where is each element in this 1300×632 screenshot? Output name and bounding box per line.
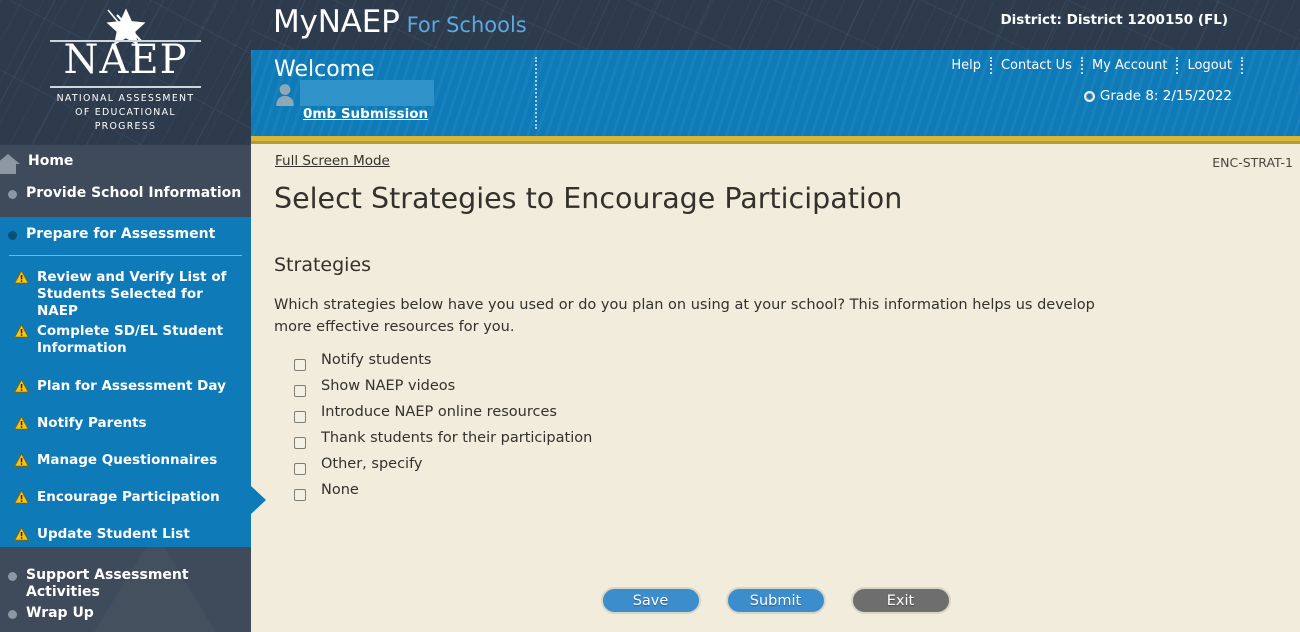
warning-icon xyxy=(14,324,29,338)
sidebar-item-label: Notify Parents xyxy=(37,415,147,432)
checkbox-input[interactable] xyxy=(294,489,306,501)
checkbox-input[interactable] xyxy=(294,463,306,475)
bullet-icon xyxy=(8,610,17,619)
naep-acronym: NAEP xyxy=(0,40,251,80)
exit-button[interactable]: Exit xyxy=(851,587,951,614)
sidebar-item-label: Home xyxy=(28,153,73,170)
page-code-label: ENC-STRAT-1 xyxy=(1212,155,1293,170)
sidebar-item-label: Complete SD/EL Student Information xyxy=(37,323,237,357)
omb-submission-link[interactable]: 0mb Submission xyxy=(303,106,428,122)
bullet-icon xyxy=(8,190,17,199)
sidebar-item-label: Encourage Participation xyxy=(37,489,220,506)
sidebar-section-rule xyxy=(9,255,242,256)
sidebar-nav: Home Provide School Information Prepare … xyxy=(0,145,251,632)
nav-logout[interactable]: Logout xyxy=(1178,57,1243,74)
strategies-checkbox-list: Notify students Show NAEP videos Introdu… xyxy=(294,350,592,506)
checkbox-row-notify-students[interactable]: Notify students xyxy=(294,350,592,376)
brand-primary: MyNAEP xyxy=(273,4,400,40)
naep-tagline: NATIONAL ASSESSMENT OF EDUCATIONAL PROGR… xyxy=(0,92,251,134)
naep-logo-panel: NAEP NATIONAL ASSESSMENT OF EDUCATIONAL … xyxy=(0,0,251,145)
brand-secondary: For Schools xyxy=(407,13,527,37)
naep-tagline-line3: PROGRESS xyxy=(0,120,251,134)
naep-tagline-line1: NATIONAL ASSESSMENT xyxy=(0,92,251,106)
checkbox-label: None xyxy=(321,480,359,500)
checkbox-label: Other, specify xyxy=(321,454,423,474)
checkbox-label: Thank students for their participation xyxy=(321,428,592,448)
house-icon xyxy=(0,154,22,174)
user-name-redacted xyxy=(300,80,434,106)
sidebar-item-manage-questionnaires[interactable]: Manage Questionnaires xyxy=(0,452,251,469)
checkbox-label: Show NAEP videos xyxy=(321,376,455,396)
checkbox-row-introduce-naep-online-resources[interactable]: Introduce NAEP online resources xyxy=(294,402,592,428)
top-nav: Help Contact Us My Account Logout xyxy=(951,57,1243,74)
form-action-buttons: Save Submit Exit xyxy=(251,587,1300,614)
sidebar-item-label: Provide School Information xyxy=(26,185,241,202)
sidebar-item-provide-school-information[interactable]: Provide School Information xyxy=(0,185,251,202)
warning-icon xyxy=(14,527,29,541)
sidebar-item-review-and-verify-list[interactable]: Review and Verify List of Students Selec… xyxy=(0,269,251,320)
warning-icon xyxy=(14,416,29,430)
brand-logo: MyNAEPFor Schools xyxy=(273,4,527,40)
district-label: District: District 1200150 (FL) xyxy=(1000,12,1228,28)
checkbox-row-none[interactable]: None xyxy=(294,480,592,506)
nav-help[interactable]: Help xyxy=(951,57,992,74)
sidebar-item-plan-for-assessment-day[interactable]: Plan for Assessment Day xyxy=(0,378,251,395)
main-content: Full Screen Mode ENC-STRAT-1 Select Stra… xyxy=(251,144,1300,632)
section-title: Strategies xyxy=(274,254,371,276)
sidebar-item-notify-parents[interactable]: Notify Parents xyxy=(0,415,251,432)
sidebar-item-encourage-participation[interactable]: Encourage Participation xyxy=(0,489,251,506)
save-button[interactable]: Save xyxy=(601,587,701,614)
checkbox-label: Notify students xyxy=(321,350,431,370)
checkbox-row-other-specify[interactable]: Other, specify xyxy=(294,454,592,480)
nav-my-account[interactable]: My Account xyxy=(1083,57,1179,74)
bullet-icon xyxy=(8,231,17,240)
logo-rule-bottom xyxy=(50,86,201,88)
checkbox-row-show-naep-videos[interactable]: Show NAEP videos xyxy=(294,376,592,402)
sidebar-item-label: Review and Verify List of Students Selec… xyxy=(37,269,237,320)
sidebar-item-label: Plan for Assessment Day xyxy=(37,378,226,395)
gold-divider-shadow xyxy=(251,141,1300,144)
sidebar-item-label: Update Student List xyxy=(37,526,190,543)
active-item-pointer-icon xyxy=(251,486,266,514)
full-screen-mode-link[interactable]: Full Screen Mode xyxy=(275,153,390,169)
warning-icon xyxy=(14,270,29,284)
warning-icon xyxy=(14,490,29,504)
sidebar-item-home[interactable]: Home xyxy=(0,153,251,174)
sidebar-item-prepare-for-assessment[interactable]: Prepare for Assessment xyxy=(0,226,251,243)
welcome-bar: Welcome 0mb Submission Help Contact Us M… xyxy=(251,50,1300,136)
submit-button[interactable]: Submit xyxy=(726,587,826,614)
checkbox-input[interactable] xyxy=(294,385,306,397)
warning-icon xyxy=(14,379,29,393)
sidebar-item-label: Wrap Up xyxy=(26,605,94,622)
grade-info: Grade 8: 2/15/2022 xyxy=(1084,88,1232,104)
checkbox-input[interactable] xyxy=(294,437,306,449)
app-window: MyNAEPFor Schools District: District 120… xyxy=(0,0,1300,632)
checkbox-input[interactable] xyxy=(294,411,306,423)
bullet-icon xyxy=(8,572,17,581)
sidebar-item-label: Manage Questionnaires xyxy=(37,452,217,469)
sidebar-item-label: Prepare for Assessment xyxy=(26,226,215,243)
sidebar-item-complete-sd-el-student-information[interactable]: Complete SD/EL Student Information xyxy=(0,323,251,357)
sidebar-item-wrap-up[interactable]: Wrap Up xyxy=(0,605,251,622)
checkbox-input[interactable] xyxy=(294,359,306,371)
target-icon xyxy=(1084,91,1095,102)
welcome-title: Welcome xyxy=(274,57,375,82)
warning-icon xyxy=(14,453,29,467)
user-avatar-icon xyxy=(275,83,295,106)
sidebar-item-label: Support Assessment Activities xyxy=(26,567,251,601)
naep-tagline-line2: OF EDUCATIONAL xyxy=(0,106,251,120)
nav-contact-us[interactable]: Contact Us xyxy=(992,57,1083,74)
checkbox-label: Introduce NAEP online resources xyxy=(321,402,557,422)
welcome-divider xyxy=(535,57,537,129)
sidebar-item-support-assessment-activities[interactable]: Support Assessment Activities xyxy=(0,567,251,601)
page-title: Select Strategies to Encourage Participa… xyxy=(274,182,902,215)
sidebar-item-update-student-list[interactable]: Update Student List xyxy=(0,526,251,543)
section-description: Which strategies below have you used or … xyxy=(274,294,1129,338)
grade-info-label: Grade 8: 2/15/2022 xyxy=(1100,88,1232,104)
checkbox-row-thank-students[interactable]: Thank students for their participation xyxy=(294,428,592,454)
